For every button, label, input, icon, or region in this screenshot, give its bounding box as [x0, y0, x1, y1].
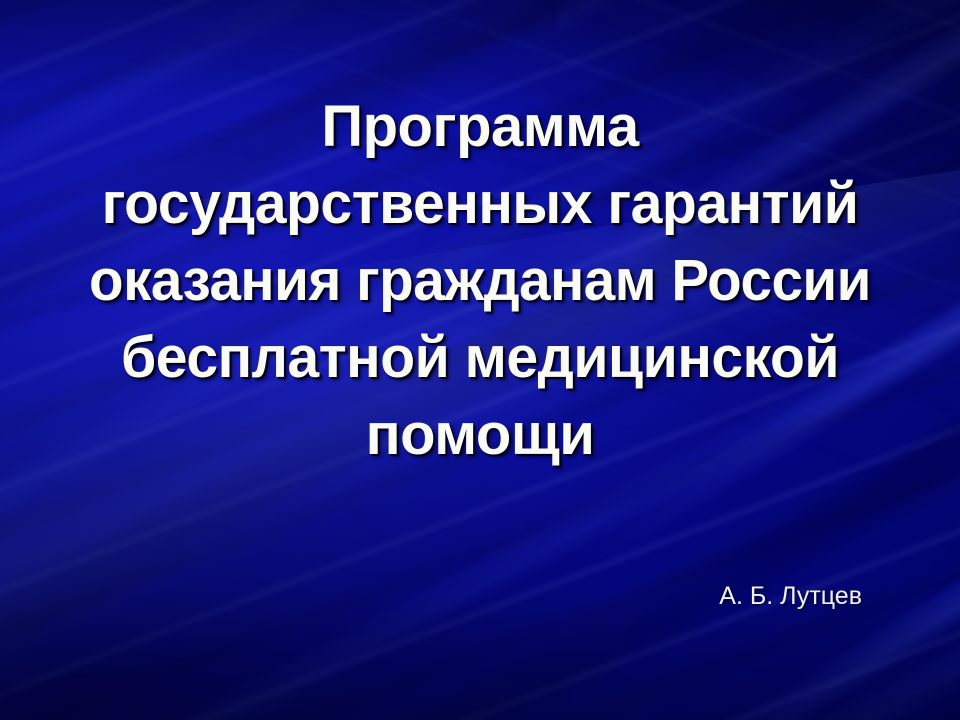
- author-name: А. Б. Лутцев: [0, 581, 862, 611]
- title-line-1: Программа: [18, 88, 942, 165]
- slide-content: Программа государственных гарантий оказа…: [0, 0, 960, 720]
- slide-title: Программа государственных гарантий оказа…: [18, 88, 942, 473]
- title-line-4: бесплатной медицинской: [25, 319, 935, 396]
- title-line-3: оказания гражданам России: [30, 242, 931, 319]
- title-line-2: государственных гарантий: [25, 165, 935, 242]
- title-slide: Программа государственных гарантий оказа…: [0, 0, 960, 720]
- title-line-5: помощи: [18, 396, 942, 473]
